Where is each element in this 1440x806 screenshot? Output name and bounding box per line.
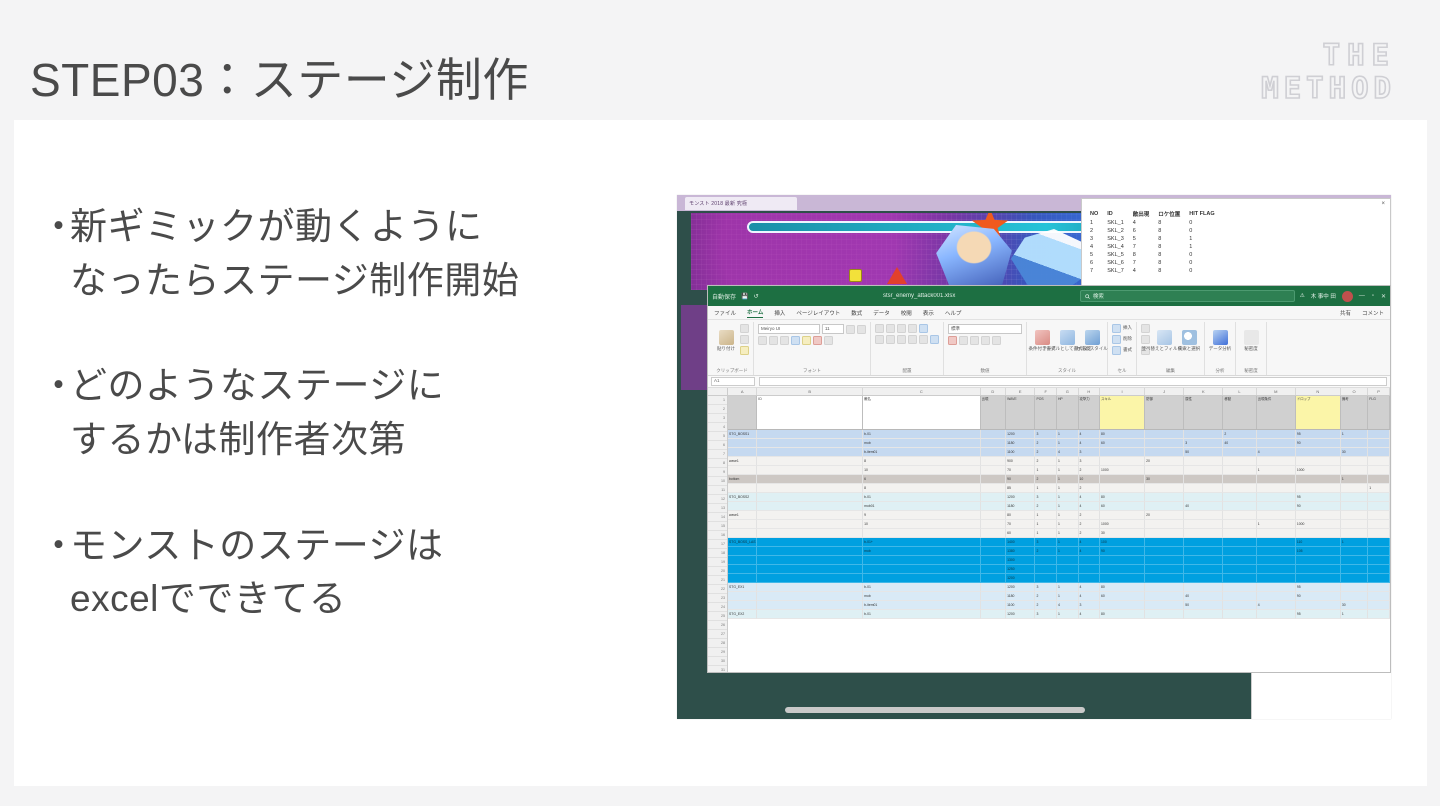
row-number[interactable]: 14 — [708, 513, 727, 522]
table-cell[interactable]: b-01+ — [863, 538, 981, 547]
font-color-icon[interactable] — [813, 336, 822, 345]
column-letter[interactable]: J — [1145, 388, 1184, 395]
table-cell[interactable]: 2 — [1035, 502, 1057, 511]
row-number[interactable]: 20 — [708, 567, 727, 576]
table-cell[interactable]: STG_BOSS1 — [728, 430, 757, 439]
table-row[interactable]: 8851121 — [728, 484, 1390, 493]
table-cell[interactable]: 1000 — [1100, 466, 1145, 475]
cell-styles-button[interactable]: セルのスタイル — [1081, 324, 1103, 358]
table-cell[interactable]: 70 — [1006, 466, 1035, 475]
table-cell[interactable] — [728, 556, 757, 565]
table-cell[interactable]: 3 — [1079, 601, 1101, 610]
table-cell[interactable]: 1 — [1257, 520, 1296, 529]
table-cell[interactable] — [1368, 475, 1390, 484]
table-cell[interactable] — [728, 484, 757, 493]
table-cell[interactable] — [1223, 601, 1256, 610]
restore-button[interactable]: ▫ — [1372, 293, 1374, 300]
table-cell[interactable] — [1223, 475, 1256, 484]
table-cell[interactable] — [728, 565, 757, 574]
table-cell[interactable] — [1079, 565, 1101, 574]
table-cell[interactable] — [1368, 448, 1390, 457]
table-cell[interactable] — [1145, 547, 1184, 556]
table-cell[interactable] — [757, 430, 863, 439]
table-cell[interactable] — [1368, 583, 1390, 592]
tab-formulas[interactable]: 数式 — [851, 309, 862, 317]
bold-icon[interactable] — [758, 336, 767, 345]
table-cell[interactable] — [981, 601, 1006, 610]
column-letter[interactable]: E — [1006, 388, 1035, 395]
table-cell[interactable] — [1257, 529, 1296, 538]
table-cell[interactable] — [1257, 583, 1296, 592]
table-cell[interactable]: 1380 — [1006, 547, 1035, 556]
table-cell[interactable] — [1145, 448, 1184, 457]
table-cell[interactable] — [1057, 556, 1079, 565]
table-cell[interactable] — [757, 529, 863, 538]
table-cell[interactable] — [1257, 484, 1296, 493]
table-cell[interactable]: 30 — [1145, 475, 1184, 484]
table-cell[interactable] — [1368, 565, 1390, 574]
table-cell[interactable] — [1145, 574, 1184, 583]
table-cell[interactable] — [1145, 529, 1184, 538]
table-cell[interactable] — [1368, 502, 1390, 511]
row-number[interactable]: 4 — [708, 423, 727, 432]
table-cell[interactable]: 80 — [1100, 493, 1145, 502]
paste-button[interactable]: 貼り付け — [715, 324, 737, 358]
table-cell[interactable] — [1257, 565, 1296, 574]
table-cell[interactable]: 3 — [1035, 493, 1057, 502]
table-cell[interactable]: 40 — [1223, 439, 1256, 448]
table-cell[interactable] — [1368, 592, 1390, 601]
table-row[interactable]: STG_BOSS1b-011200314802951 — [728, 430, 1390, 439]
table-cell[interactable] — [1257, 538, 1296, 547]
row-number[interactable]: 2 — [708, 405, 727, 414]
table-cell[interactable] — [757, 547, 863, 556]
table-cell[interactable]: 20 — [1145, 511, 1184, 520]
currency-icon[interactable] — [948, 336, 957, 345]
table-cell[interactable]: 1 — [1057, 610, 1079, 619]
table-cell[interactable]: 1 — [1057, 520, 1079, 529]
table-row[interactable]: STG_EX1b-0112003148095 — [728, 583, 1390, 592]
table-cell[interactable] — [1368, 457, 1390, 466]
percent-icon[interactable] — [959, 336, 968, 345]
table-cell[interactable] — [1184, 484, 1223, 493]
table-cell[interactable] — [1223, 592, 1256, 601]
table-cell[interactable] — [728, 529, 757, 538]
row-number[interactable]: 31 — [708, 666, 727, 673]
table-cell[interactable] — [1184, 529, 1223, 538]
table-row[interactable]: wave1890021320 — [728, 457, 1390, 466]
table-cell[interactable]: 1 — [1057, 583, 1079, 592]
table-cell[interactable] — [981, 493, 1006, 502]
table-cell[interactable]: 95 — [1296, 583, 1341, 592]
table-cell[interactable]: 3 — [1035, 430, 1057, 439]
column-letter[interactable]: N — [1296, 388, 1341, 395]
table-cell[interactable] — [1100, 475, 1145, 484]
table-cell[interactable] — [1223, 502, 1256, 511]
table-cell[interactable]: STG_BOSS2 — [728, 493, 757, 502]
table-cell[interactable] — [1184, 610, 1223, 619]
table-row[interactable]: b-item01110024350430 — [728, 601, 1390, 610]
column-letter[interactable]: O — [1341, 388, 1368, 395]
table-cell[interactable]: 60 — [1100, 502, 1145, 511]
table-row[interactable]: 6011230 — [728, 529, 1390, 538]
table-cell[interactable] — [1184, 547, 1223, 556]
quick-access-toolbar[interactable]: 自動保存 💾 ↺ — [712, 292, 759, 301]
table-cell[interactable] — [1257, 547, 1296, 556]
table-cell[interactable] — [1223, 529, 1256, 538]
table-cell[interactable]: 4 — [1079, 610, 1101, 619]
table-cell[interactable] — [1257, 493, 1296, 502]
table-cell[interactable] — [1341, 565, 1368, 574]
table-cell[interactable]: 95 — [1296, 610, 1341, 619]
table-cell[interactable]: 1100 — [1006, 601, 1035, 610]
table-cell[interactable]: 2 — [1035, 439, 1057, 448]
table-cell[interactable]: 4 — [1057, 601, 1079, 610]
table-cell[interactable] — [1057, 574, 1079, 583]
row-number[interactable]: 1 — [708, 396, 727, 405]
sheet-cells[interactable]: ID敵名出現WAVEPOSHP攻撃力スキル防御属性移動出現条件ドロップ備考FLG… — [728, 396, 1390, 673]
table-cell[interactable] — [757, 448, 863, 457]
table-cell[interactable] — [1223, 610, 1256, 619]
tab-data[interactable]: データ — [873, 309, 890, 317]
sensitivity-button[interactable]: 秘密度 — [1240, 324, 1262, 358]
table-cell[interactable] — [1145, 430, 1184, 439]
table-cell[interactable]: 30 — [1341, 448, 1368, 457]
table-cell[interactable]: 1 — [1035, 511, 1057, 520]
comma-icon[interactable] — [970, 336, 979, 345]
table-cell[interactable] — [1341, 592, 1368, 601]
column-letter[interactable]: B — [757, 388, 863, 395]
table-cell[interactable] — [1145, 583, 1184, 592]
table-cell[interactable]: 1 — [1057, 484, 1079, 493]
table-cell[interactable] — [1257, 556, 1296, 565]
table-cell[interactable] — [1100, 511, 1145, 520]
table-cell[interactable]: 3 — [1035, 538, 1057, 547]
insert-cells-icon[interactable] — [1112, 324, 1121, 333]
table-cell[interactable] — [1223, 493, 1256, 502]
table-cell[interactable]: 3 — [1184, 439, 1223, 448]
table-cell[interactable] — [981, 475, 1006, 484]
row-number[interactable]: 12 — [708, 495, 727, 504]
browser-tab[interactable]: モンスト 2018 最新 究極 — [685, 197, 797, 210]
table-cell[interactable] — [1341, 547, 1368, 556]
warning-icon[interactable]: ⚠ — [1300, 293, 1305, 299]
row-number[interactable]: 3 — [708, 414, 727, 423]
table-cell[interactable]: 8 — [863, 457, 981, 466]
table-cell[interactable]: 1200 — [1006, 583, 1035, 592]
table-cell[interactable] — [863, 574, 981, 583]
table-cell[interactable]: 2 — [1035, 601, 1057, 610]
table-cell[interactable] — [1341, 529, 1368, 538]
table-cell[interactable] — [1223, 556, 1256, 565]
table-cell[interactable] — [863, 565, 981, 574]
table-cell[interactable] — [728, 466, 757, 475]
table-cell[interactable] — [1145, 592, 1184, 601]
format-cells-icon[interactable] — [1112, 346, 1121, 355]
table-cell[interactable] — [757, 439, 863, 448]
table-cell[interactable]: 2 — [1035, 448, 1057, 457]
table-cell[interactable]: 1200 — [1006, 610, 1035, 619]
table-cell[interactable] — [1368, 529, 1390, 538]
table-cell[interactable]: 80 — [1100, 610, 1145, 619]
table-cell[interactable]: 2 — [1079, 520, 1101, 529]
row-number[interactable]: 17 — [708, 540, 727, 549]
table-cell[interactable]: 60 — [1100, 439, 1145, 448]
row-number[interactable]: 29 — [708, 648, 727, 657]
table-cell[interactable] — [757, 556, 863, 565]
table-cell[interactable]: 90 — [1296, 439, 1341, 448]
table-cell[interactable]: 110 — [1296, 538, 1341, 547]
table-cell[interactable] — [728, 601, 757, 610]
close-button[interactable]: ✕ — [1381, 293, 1386, 300]
autosave-toggle[interactable]: 自動保存 — [712, 292, 736, 301]
row-number[interactable]: 11 — [708, 486, 727, 495]
copy-icon[interactable] — [740, 335, 749, 344]
table-cell[interactable]: mob — [863, 592, 981, 601]
table-cell[interactable]: b-01 — [863, 583, 981, 592]
table-cell[interactable] — [1368, 601, 1390, 610]
tab-home[interactable]: ホーム — [747, 308, 763, 318]
table-cell[interactable]: STG_BOSS_LAST — [728, 538, 757, 547]
table-cell[interactable]: 30 — [1341, 601, 1368, 610]
table-cell[interactable] — [1184, 493, 1223, 502]
table-cell[interactable]: 4 — [1079, 538, 1101, 547]
table-cell[interactable] — [757, 601, 863, 610]
table-cell[interactable]: 2 — [1035, 547, 1057, 556]
table-cell[interactable] — [1257, 592, 1296, 601]
table-cell[interactable] — [1296, 565, 1341, 574]
table-cell[interactable] — [728, 448, 757, 457]
table-cell[interactable] — [728, 574, 757, 583]
table-cell[interactable] — [981, 502, 1006, 511]
table-cell[interactable] — [1145, 502, 1184, 511]
align-center-icon[interactable] — [886, 335, 895, 344]
table-cell[interactable]: b-01 — [863, 493, 981, 502]
table-cell[interactable] — [1257, 457, 1296, 466]
table-cell[interactable]: 1 — [1035, 484, 1057, 493]
table-cell[interactable] — [1145, 520, 1184, 529]
row-number[interactable]: 24 — [708, 603, 727, 612]
table-cell[interactable]: 1 — [1341, 430, 1368, 439]
table-cell[interactable] — [1223, 457, 1256, 466]
table-cell[interactable]: 900 — [1006, 457, 1035, 466]
row-number[interactable]: 28 — [708, 639, 727, 648]
table-cell[interactable] — [1184, 574, 1223, 583]
table-cell[interactable]: 1 — [1341, 538, 1368, 547]
delete-cells-icon[interactable] — [1112, 335, 1121, 344]
table-cell[interactable] — [1257, 430, 1296, 439]
table-cell[interactable]: 3 — [1035, 610, 1057, 619]
table-cell[interactable]: 4 — [1079, 430, 1101, 439]
table-cell[interactable]: 2 — [1079, 511, 1101, 520]
table-cell[interactable]: 105 — [1296, 547, 1341, 556]
table-cell[interactable]: 90 — [1100, 547, 1145, 556]
row-number[interactable]: 5 — [708, 432, 727, 441]
table-cell[interactable]: 4 — [1257, 448, 1296, 457]
table-cell[interactable] — [1223, 466, 1256, 475]
font-size-select[interactable]: 11 — [822, 324, 844, 334]
table-row[interactable]: STG_EX2b-01120031480951 — [728, 610, 1390, 619]
table-cell[interactable]: 1 — [1057, 511, 1079, 520]
table-cell[interactable]: 10 — [1079, 475, 1101, 484]
table-cell[interactable] — [863, 529, 981, 538]
table-cell[interactable] — [981, 592, 1006, 601]
table-cell[interactable] — [1184, 520, 1223, 529]
tab-page-layout[interactable]: ページレイアウト — [796, 309, 840, 317]
table-cell[interactable] — [1100, 601, 1145, 610]
table-cell[interactable]: 100 — [1100, 538, 1145, 547]
table-cell[interactable]: 90 — [1296, 502, 1341, 511]
table-cell[interactable] — [1296, 475, 1341, 484]
table-cell[interactable]: 1 — [1057, 592, 1079, 601]
table-cell[interactable] — [981, 448, 1006, 457]
undo-icon[interactable]: ↺ — [754, 293, 759, 300]
close-icon[interactable]: × — [1381, 201, 1385, 207]
table-cell[interactable] — [1296, 511, 1341, 520]
column-letter[interactable]: C — [863, 388, 981, 395]
align-bottom-icon[interactable] — [897, 324, 906, 333]
table-cell[interactable] — [1368, 493, 1390, 502]
fill-color-icon[interactable] — [802, 336, 811, 345]
table-cell[interactable]: mob — [863, 439, 981, 448]
select-all-corner[interactable] — [708, 388, 728, 395]
table-cell[interactable]: 50 — [1184, 601, 1223, 610]
table-cell[interactable]: mob — [863, 547, 981, 556]
table-row[interactable]: 1200 — [728, 574, 1390, 583]
table-cell[interactable] — [1184, 430, 1223, 439]
table-cell[interactable]: 4 — [1079, 583, 1101, 592]
row-number[interactable]: 25 — [708, 612, 727, 621]
table-cell[interactable]: 60 — [1100, 592, 1145, 601]
table-cell[interactable] — [1079, 574, 1101, 583]
table-row[interactable]: b-item01110024350430 — [728, 448, 1390, 457]
table-cell[interactable]: STG_EX2 — [728, 610, 757, 619]
table-cell[interactable]: 4 — [1079, 592, 1101, 601]
table-cell[interactable] — [1145, 484, 1184, 493]
table-cell[interactable] — [981, 583, 1006, 592]
table-cell[interactable]: wave1 — [728, 511, 757, 520]
table-row[interactable]: STG_BOSS_LASTb-01+14003141001101 — [728, 538, 1390, 547]
table-cell[interactable]: 1200 — [1006, 574, 1035, 583]
table-cell[interactable] — [728, 439, 757, 448]
align-top-icon[interactable] — [875, 324, 884, 333]
table-cell[interactable] — [1296, 457, 1341, 466]
table-cell[interactable] — [1257, 502, 1296, 511]
table-cell[interactable]: 1180 — [1006, 592, 1035, 601]
table-cell[interactable] — [1184, 457, 1223, 466]
table-cell[interactable] — [1223, 565, 1256, 574]
table-cell[interactable] — [1223, 448, 1256, 457]
table-cell[interactable] — [757, 493, 863, 502]
tab-view[interactable]: 表示 — [923, 309, 934, 317]
row-number[interactable]: 19 — [708, 558, 727, 567]
table-cell[interactable]: 80 — [1100, 583, 1145, 592]
data-analysis-button[interactable]: データ分析 — [1209, 324, 1231, 358]
table-cell[interactable]: 2 — [1223, 430, 1256, 439]
table-cell[interactable] — [1223, 547, 1256, 556]
table-cell[interactable] — [1184, 511, 1223, 520]
table-cell[interactable] — [757, 457, 863, 466]
row-number[interactable]: 27 — [708, 630, 727, 639]
table-cell[interactable]: 4 — [1057, 448, 1079, 457]
table-cell[interactable] — [1035, 574, 1057, 583]
table-cell[interactable] — [1100, 574, 1145, 583]
table-cell[interactable] — [1368, 547, 1390, 556]
column-letter[interactable]: I — [1100, 388, 1145, 395]
table-cell[interactable]: 4 — [1079, 547, 1101, 556]
account-label[interactable]: 木 事中 田 — [1311, 292, 1336, 300]
table-cell[interactable] — [981, 529, 1006, 538]
table-cell[interactable]: 10 — [863, 520, 981, 529]
table-cell[interactable]: 1 — [1057, 502, 1079, 511]
table-cell[interactable]: 1000 — [1296, 466, 1341, 475]
table-cell[interactable]: 40 — [1184, 502, 1223, 511]
table-cell[interactable]: 2 — [1035, 475, 1057, 484]
table-cell[interactable] — [757, 592, 863, 601]
table-cell[interactable]: 95 — [1296, 430, 1341, 439]
table-cell[interactable] — [1341, 511, 1368, 520]
table-cell[interactable]: 1 — [1057, 547, 1079, 556]
font-name-select[interactable]: Meiryo UI — [758, 324, 820, 334]
table-cell[interactable]: 80 — [1100, 430, 1145, 439]
save-icon[interactable]: 💾 — [741, 293, 748, 300]
table-cell[interactable] — [1184, 466, 1223, 475]
table-cell[interactable] — [981, 511, 1006, 520]
autosum-icon[interactable] — [1141, 324, 1150, 333]
table-cell[interactable]: 1 — [1035, 529, 1057, 538]
table-cell[interactable] — [1341, 484, 1368, 493]
table-cell[interactable] — [981, 574, 1006, 583]
tab-review[interactable]: 校閲 — [901, 309, 912, 317]
table-cell[interactable] — [1296, 574, 1341, 583]
table-cell[interactable] — [1223, 520, 1256, 529]
table-cell[interactable]: 1 — [1057, 529, 1079, 538]
number-format-select[interactable]: 標準 — [948, 324, 1022, 334]
table-cell[interactable] — [1368, 511, 1390, 520]
table-cell[interactable]: 4 — [1257, 601, 1296, 610]
table-cell[interactable] — [1184, 475, 1223, 484]
table-row[interactable]: mob11802146034090 — [728, 439, 1390, 448]
table-cell[interactable]: 95 — [1296, 493, 1341, 502]
tab-file[interactable]: ファイル — [714, 309, 736, 317]
table-cell[interactable] — [1145, 556, 1184, 565]
table-row[interactable]: mob138021490105 — [728, 547, 1390, 556]
table-row[interactable]: 1070112100011000 — [728, 466, 1390, 475]
table-cell[interactable] — [757, 466, 863, 475]
table-cell[interactable]: 1200 — [1006, 493, 1035, 502]
table-cell[interactable] — [1368, 574, 1390, 583]
row-number[interactable]: 30 — [708, 657, 727, 666]
table-cell[interactable] — [1100, 556, 1145, 565]
table-cell[interactable] — [1057, 565, 1079, 574]
table-cell[interactable] — [981, 556, 1006, 565]
table-cell[interactable]: 1 — [1341, 610, 1368, 619]
table-cell[interactable] — [1184, 583, 1223, 592]
table-cell[interactable]: 1 — [1057, 538, 1079, 547]
table-cell[interactable] — [1257, 475, 1296, 484]
table-cell[interactable]: 4 — [1079, 502, 1101, 511]
table-cell[interactable] — [1296, 601, 1341, 610]
table-cell[interactable] — [1368, 610, 1390, 619]
minimize-button[interactable]: — — [1359, 293, 1365, 300]
table-cell[interactable]: 1 — [1341, 475, 1368, 484]
table-cell[interactable] — [1145, 439, 1184, 448]
border-icon[interactable] — [791, 336, 800, 345]
table-cell[interactable]: b-01 — [863, 430, 981, 439]
table-cell[interactable]: 2 — [1079, 529, 1101, 538]
table-cell[interactable]: 3 — [1079, 457, 1101, 466]
table-cell[interactable]: 3 — [1035, 583, 1057, 592]
